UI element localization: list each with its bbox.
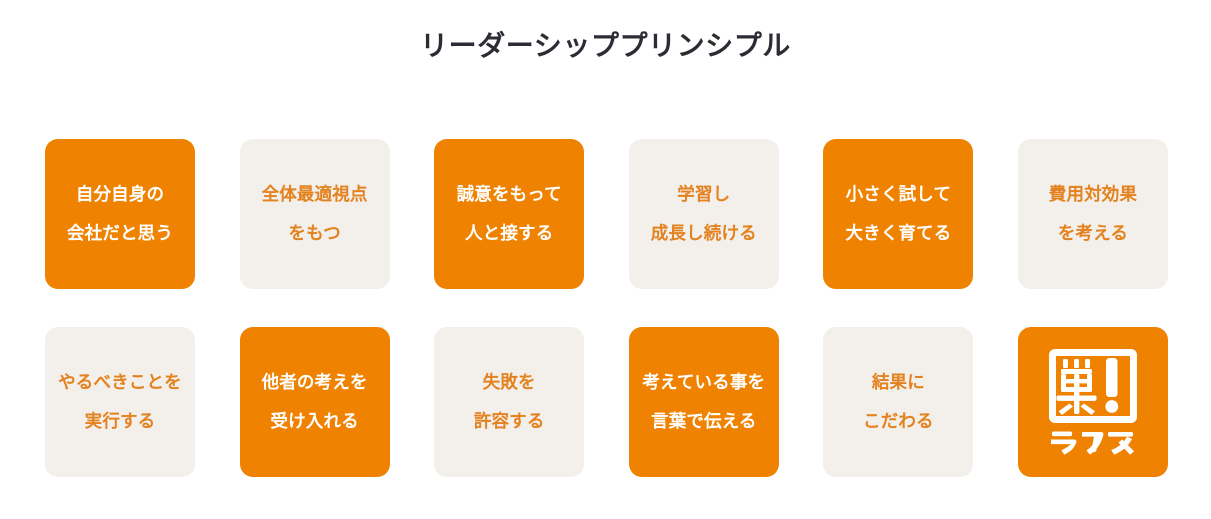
principle-card-line: 許容する (474, 402, 545, 441)
rakus-logo-icon (1049, 349, 1137, 423)
principle-card[interactable]: 費用対効果 を考える (1018, 139, 1168, 289)
principle-card[interactable]: 結果に こだわる (823, 327, 973, 477)
principle-card[interactable]: やるべきことを 実行する (45, 327, 195, 477)
principle-card-line: 会社だと思う (67, 214, 173, 253)
principle-card-line: 誠意をもって (457, 175, 562, 214)
page-title: リーダーシッププリンシプル (0, 28, 1211, 64)
principle-card-line: 失敗を (483, 363, 536, 402)
principles-card-grid: 自分自身の 会社だと思う 全体最適視点 をもつ 誠意をもって 人と接する 学習し… (45, 139, 1168, 477)
principle-card-line: 自分自身の (76, 175, 164, 214)
principle-card-line: 費用対効果 (1049, 175, 1137, 214)
principle-card[interactable]: 全体最適視点 をもつ (240, 139, 390, 289)
principle-card-line: 学習し (677, 175, 730, 214)
principle-card[interactable]: 失敗を 許容する (434, 327, 584, 477)
principle-card-line: 実行する (85, 402, 156, 441)
principle-card[interactable]: 小さく試して 大きく育てる (823, 139, 973, 289)
leadership-principles-page: リーダーシッププリンシプル 自分自身の 会社だと思う 全体最適視点 をもつ 誠意… (0, 0, 1211, 519)
rakus-wordmark-icon (1049, 429, 1137, 455)
rakus-logo-card[interactable] (1018, 327, 1168, 477)
principle-card-line: こだわる (863, 402, 934, 441)
principle-card-line: やるべきことを (58, 363, 182, 402)
principle-card-line: 他者の考えを (262, 363, 368, 402)
principle-card-line: 成長し続ける (651, 214, 757, 253)
principle-card-line: 小さく試して (846, 175, 952, 214)
principle-card[interactable]: 誠意をもって 人と接する (434, 139, 584, 289)
principle-card[interactable]: 自分自身の 会社だと思う (45, 139, 195, 289)
principle-card-line: 言葉で伝える (651, 402, 757, 441)
principle-card-line: をもつ (288, 214, 340, 253)
principle-card[interactable]: 考えている事を 言葉で伝える (629, 327, 779, 477)
principle-card[interactable]: 他者の考えを 受け入れる (240, 327, 390, 477)
principle-card-line: 受け入れる (270, 402, 358, 441)
principle-card-line: を考える (1058, 214, 1128, 253)
principle-card-line: 考えている事を (642, 363, 765, 402)
principle-card-line: 結果に (872, 363, 925, 402)
principle-card-line: 全体最適視点 (262, 175, 368, 214)
principle-card-line: 人と接する (465, 214, 553, 253)
principle-card-line: 大きく育てる (845, 214, 951, 253)
principle-card[interactable]: 学習し 成長し続ける (629, 139, 779, 289)
